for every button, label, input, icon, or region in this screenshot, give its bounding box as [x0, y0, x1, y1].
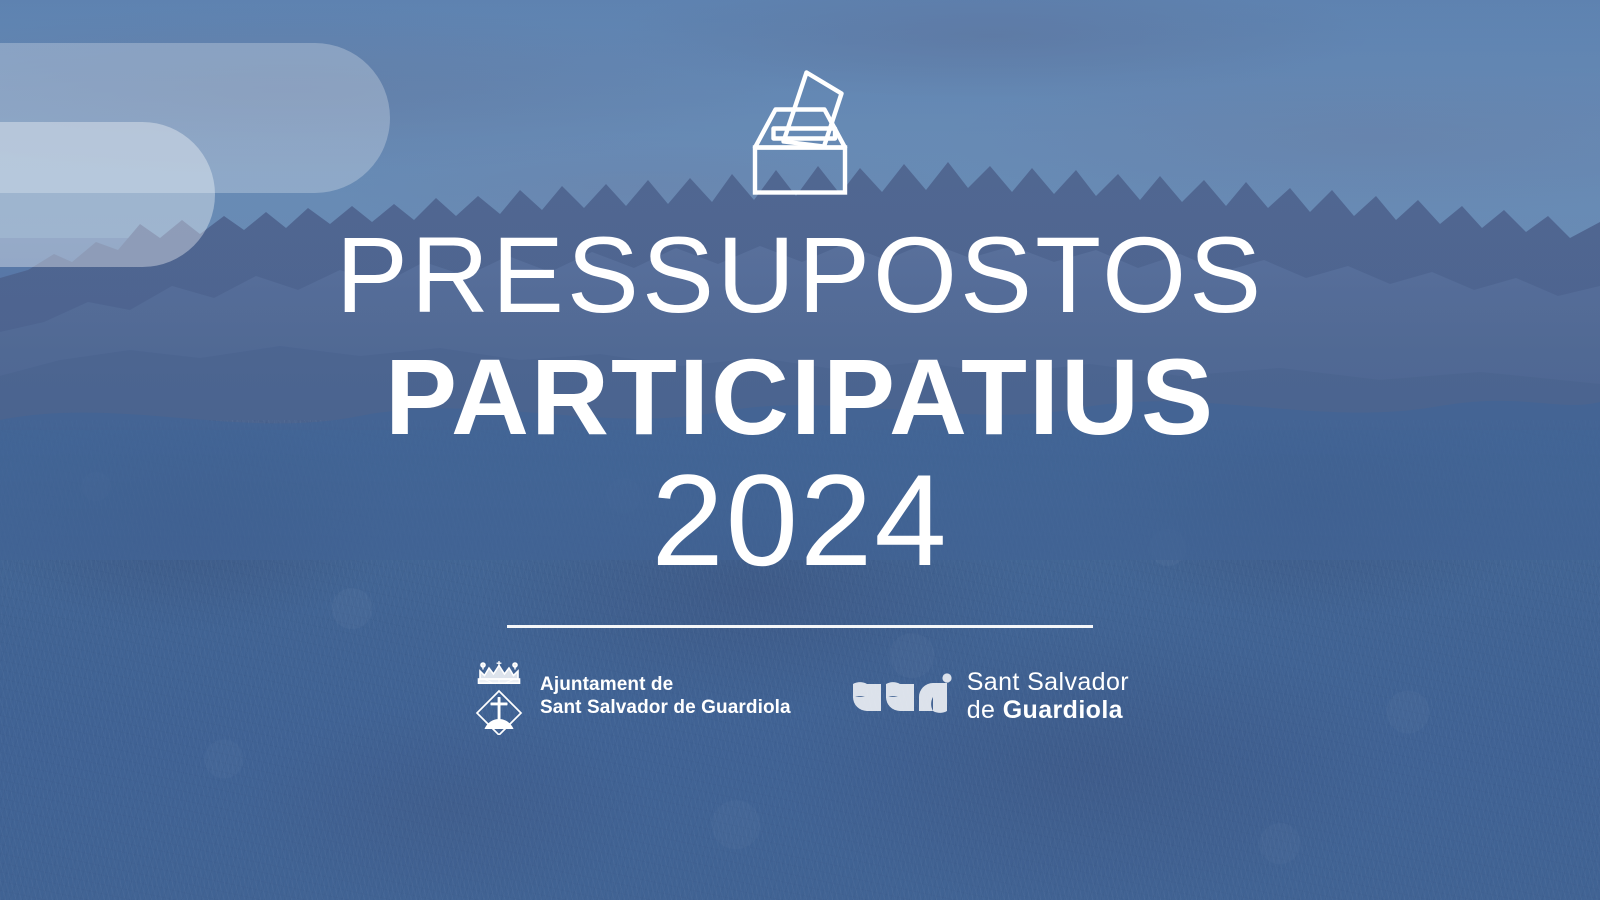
- title-line-participatius: PARTICIPATIUS: [336, 343, 1264, 451]
- ssg-logo: Sant Salvador de Guardiola: [851, 668, 1129, 724]
- ajuntament-line-2: Sant Salvador de Guardiola: [540, 696, 791, 719]
- ballot-box-icon: [744, 62, 856, 197]
- logo-row: Ajuntament de Sant Salvador de Guardiola: [471, 657, 1129, 735]
- ssg-line-1: Sant Salvador: [967, 668, 1129, 696]
- poster-title-block: PRESSUPOSTOS PARTICIPATIUS 2024: [336, 221, 1264, 585]
- ssg-line-2: de Guardiola: [967, 696, 1129, 724]
- ajuntament-line-1: Ajuntament de: [540, 673, 791, 696]
- poster-canvas: PRESSUPOSTOS PARTICIPATIUS 2024: [0, 0, 1600, 900]
- title-line-year: 2024: [336, 455, 1264, 585]
- ssg-logo-text: Sant Salvador de Guardiola: [967, 668, 1129, 724]
- title-line-pressupostos: PRESSUPOSTOS: [336, 221, 1264, 329]
- coat-of-arms-crown-and-cross-icon: [471, 657, 527, 735]
- poster-content: PRESSUPOSTOS PARTICIPATIUS 2024: [0, 0, 1600, 900]
- ajuntament-logo-text: Ajuntament de Sant Salvador de Guardiola: [540, 673, 791, 719]
- ssg-line-2-bold: Guardiola: [1003, 696, 1123, 724]
- divider-rule: [507, 625, 1093, 628]
- ssg-monogram-icon: [851, 673, 953, 719]
- ssg-line-2-light: de: [967, 696, 1003, 724]
- ajuntament-logo: Ajuntament de Sant Salvador de Guardiola: [471, 657, 791, 735]
